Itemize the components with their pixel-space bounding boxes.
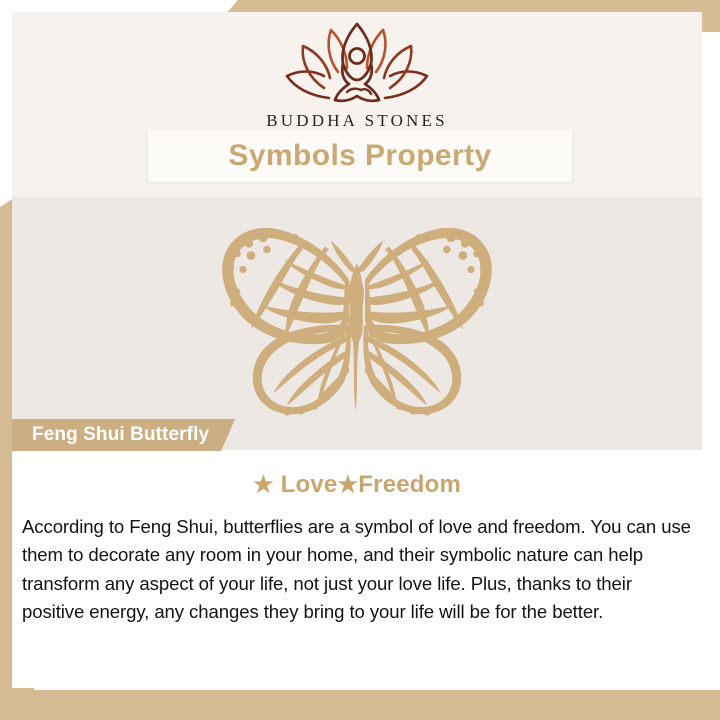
brand-block: BUDDHA STONES [12,22,702,131]
poster-card: BUDDHA STONES Symbols Property [12,12,702,688]
lotus-meditation-icon [12,22,702,109]
feng-shui-butterfly-label-text: Feng Shui Butterfly [32,424,209,446]
frame-bottom-band [0,690,720,720]
infographic-poster: BUDDHA STONES Symbols Property [0,0,720,720]
feng-shui-butterfly-label: Feng Shui Butterfly [12,419,235,451]
star-icon-left: ★ [253,471,274,497]
title-banner: Symbols Property [148,129,572,182]
subheading: ★ Love★Freedom [12,471,702,499]
brand-name: BUDDHA STONES [12,111,702,131]
subheading-love: Love [281,471,338,498]
page-title: Symbols Property [228,139,491,173]
butterfly-icon [207,221,507,426]
description-paragraph: According to Feng Shui, butterflies are … [22,513,692,626]
description-section: ★ Love★Freedom According to Feng Shui, b… [12,450,702,688]
subheading-freedom: Freedom [358,471,461,498]
star-icon-middle: ★ [337,471,358,497]
butterfly-panel [12,197,702,450]
